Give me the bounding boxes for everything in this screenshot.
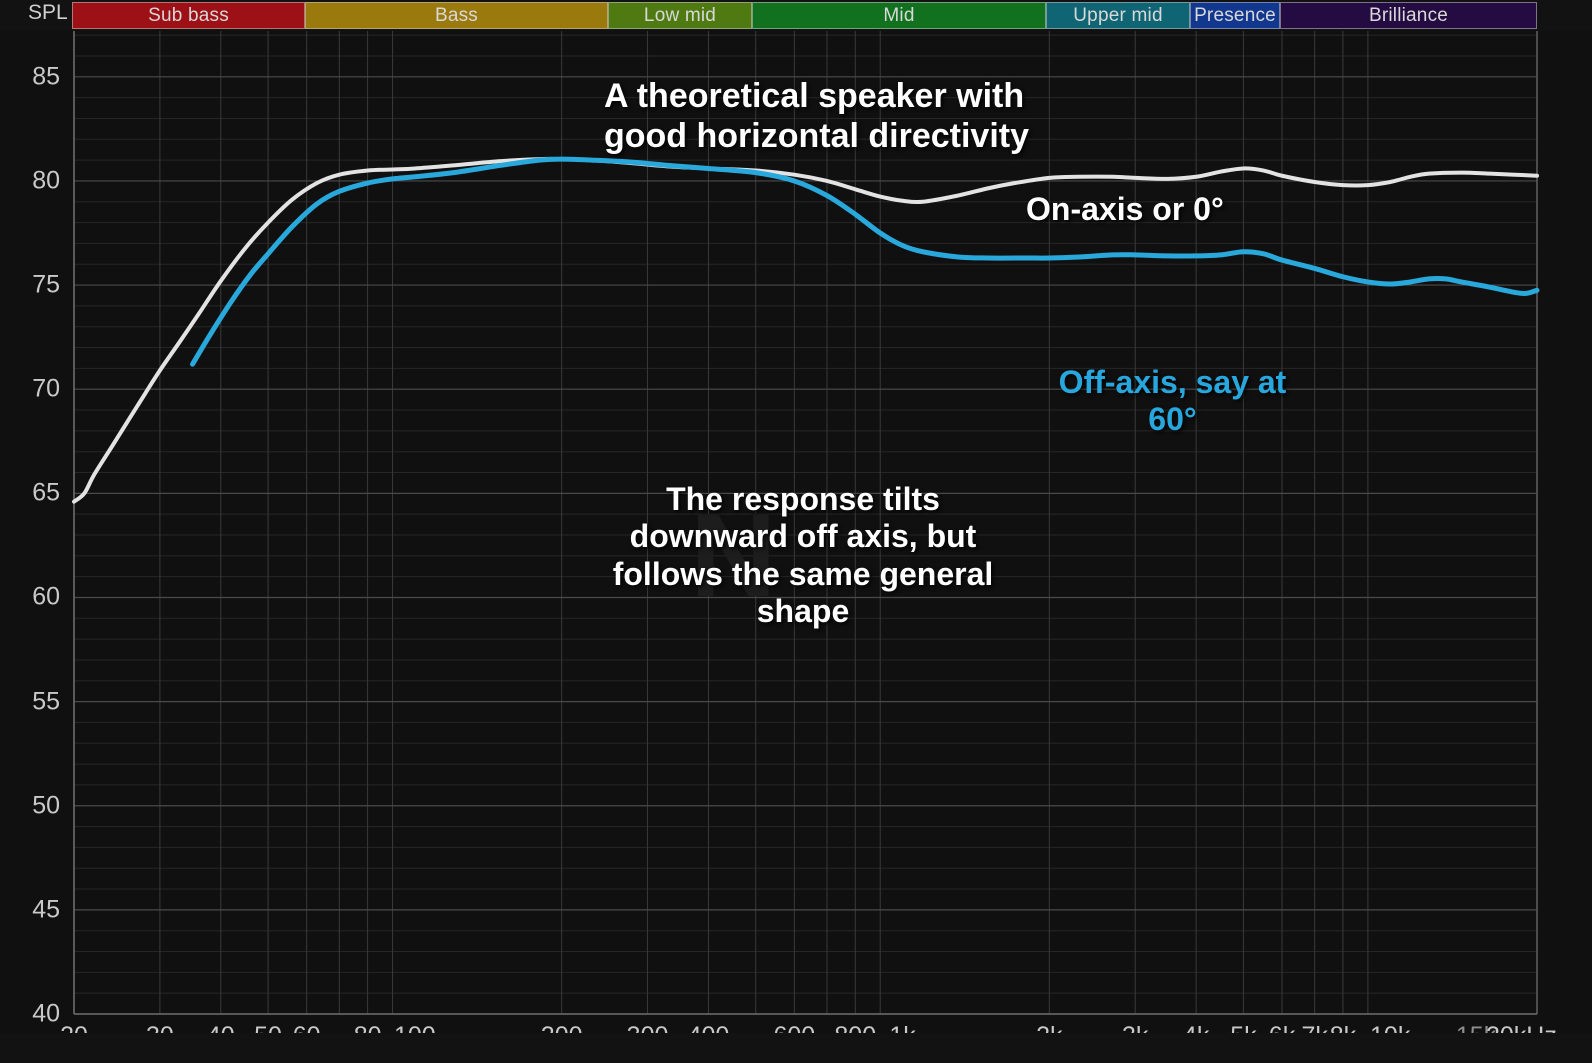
band-label: Presence: [1194, 5, 1276, 27]
band-brilliance: Brilliance: [1280, 2, 1537, 29]
y-tick-label: 80: [0, 166, 60, 195]
x-tick-label: 600: [773, 1022, 815, 1033]
annotation-explanation: The response tilts downward off axis, bu…: [583, 481, 1023, 631]
annotation-on-axis: On-axis or 0°: [1026, 191, 1224, 228]
y-tick-label: 65: [0, 479, 60, 508]
curve-on-axis: [74, 159, 1537, 502]
x-tick-label: 8k: [1330, 1022, 1356, 1033]
curve-off-axis: [193, 159, 1537, 364]
y-tick-label: 70: [0, 375, 60, 404]
band-label: Bass: [435, 5, 478, 27]
band-label: Sub bass: [148, 5, 229, 27]
plot-area: 85807570656055504540 2030405060801002003…: [0, 31, 1592, 1033]
x-tick-label: 30: [146, 1022, 174, 1033]
band-label: Low mid: [644, 5, 716, 27]
response-curves: [74, 159, 1537, 502]
x-tick-label: 800: [834, 1022, 876, 1033]
y-tick-label: 60: [0, 583, 60, 612]
y-tick-label: 50: [0, 791, 60, 820]
x-tick-label: 400: [688, 1022, 730, 1033]
y-tick-label: 85: [0, 62, 60, 91]
frequency-response-chart: SPL Sub bassBassLow midMidUpper midPrese…: [0, 0, 1592, 1063]
band-presence: Presence: [1190, 2, 1280, 29]
band-bass: Bass: [305, 2, 608, 29]
y-tick-label: 55: [0, 687, 60, 716]
x-tick-label: 2k: [1036, 1022, 1062, 1033]
band-label: Upper mid: [1073, 5, 1162, 27]
band-upper-mid: Upper mid: [1046, 2, 1190, 29]
x-tick-label: 60: [293, 1022, 321, 1033]
x-tick-label: 100: [394, 1022, 436, 1033]
annotation-title-line2: good horizontal directivity: [604, 117, 1029, 157]
band-mid: Mid: [752, 2, 1046, 29]
band-low-mid: Low mid: [608, 2, 752, 29]
y-tick-label: 40: [0, 1000, 60, 1029]
y-tick-label: 75: [0, 271, 60, 300]
x-tick-label: 10k: [1370, 1022, 1410, 1033]
frequency-band-strip: SPL Sub bassBassLow midMidUpper midPrese…: [0, 0, 1592, 31]
annotation-off-axis: Off-axis, say at 60°: [1040, 364, 1305, 439]
x-tick-label: 200: [541, 1022, 583, 1033]
x-tick-label: 300: [627, 1022, 669, 1033]
x-tick-label: 5k: [1230, 1022, 1256, 1033]
x-tick-label: 4k: [1183, 1022, 1209, 1033]
band-sub-bass: Sub bass: [72, 2, 305, 29]
x-tick-label: 40: [207, 1022, 235, 1033]
x-tick-label: 1k: [889, 1022, 915, 1033]
x-tick-label: 3k: [1122, 1022, 1148, 1033]
x-tick-label: 20kHz: [1486, 1022, 1557, 1033]
annotation-title-line1: A theoretical speaker with: [604, 77, 1029, 117]
x-tick-label: 20: [60, 1022, 88, 1033]
band-label: Brilliance: [1369, 5, 1448, 27]
x-tick-label: 80: [354, 1022, 382, 1033]
band-label: Mid: [883, 5, 914, 27]
y-tick-label: 45: [0, 895, 60, 924]
x-tick-label: 6k: [1269, 1022, 1295, 1033]
spl-axis-title: SPL: [28, 1, 68, 25]
annotation-title: A theoretical speaker with good horizont…: [604, 77, 1029, 157]
x-tick-label: 7k: [1301, 1022, 1327, 1033]
x-tick-label: 50: [254, 1022, 282, 1033]
